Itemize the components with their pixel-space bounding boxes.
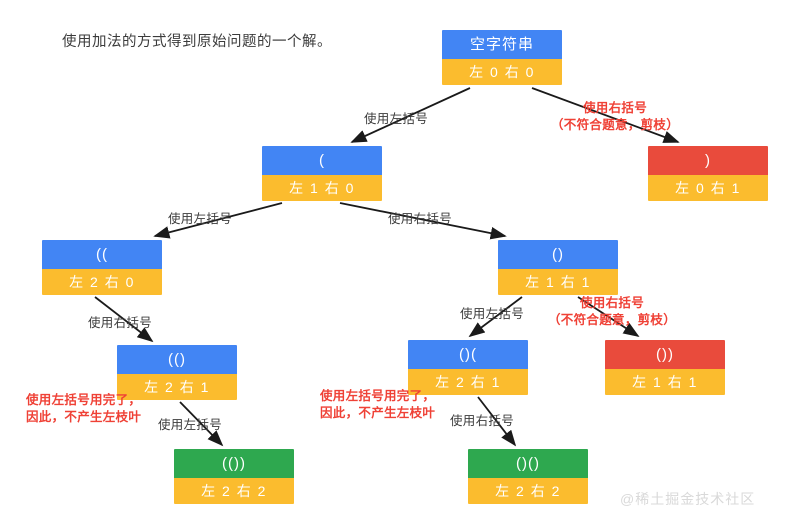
edge-label-l10: 使用左括号用完了，因此，不产生左枝叶 xyxy=(320,388,435,422)
edge-label-line1: 使用右括号 xyxy=(548,295,676,312)
node-counts: 左 2 右 2 xyxy=(468,478,588,504)
node-counts: 左 1 右 1 xyxy=(605,369,725,395)
diagram-caption: 使用加法的方式得到原始问题的一个解。 xyxy=(62,30,332,51)
tree-node-n_ococ: ()()左 2 右 2 xyxy=(468,449,588,504)
node-counts: 左 0 右 1 xyxy=(648,175,768,201)
edge-label-l3: 使用左括号 xyxy=(168,208,232,227)
diagram-canvas: 使用加法的方式得到原始问题的一个解。 空字符串左 0 右 0(左 1 右 0)左… xyxy=(0,0,789,518)
edge-label-l6: 使用左括号 xyxy=(460,303,524,322)
node-counts: 左 1 右 1 xyxy=(498,269,618,295)
tree-node-root: 空字符串左 0 右 0 xyxy=(442,30,562,85)
edge-label-l9: 使用左括号 xyxy=(158,414,222,433)
node-counts: 左 1 右 0 xyxy=(262,175,382,201)
edge-label-l4: 使用右括号 xyxy=(388,208,452,227)
edge-label-l7: 使用右括号（不符合题意，剪枝） xyxy=(548,295,676,329)
edge-label-l11: 使用右括号 xyxy=(450,410,514,429)
node-state: (( xyxy=(42,240,162,269)
edge-label-text: 使用左括号 xyxy=(168,208,232,227)
edge-label-line2: （不符合题意，剪枝） xyxy=(551,117,679,134)
edge-label-line2: （不符合题意，剪枝） xyxy=(548,312,676,329)
edge-label-text: 使用右括号 xyxy=(88,312,152,331)
edge-label-line2: 因此，不产生左枝叶 xyxy=(26,409,141,426)
node-state: ) xyxy=(648,146,768,175)
tree-node-n_occ: ())左 1 右 1 xyxy=(605,340,725,395)
edge-label-l2: 使用右括号（不符合题意，剪枝） xyxy=(551,100,679,134)
edge-label-line1: 使用左括号用完了， xyxy=(26,392,141,409)
edge-label-text: 使用左括号 xyxy=(364,108,428,127)
edge-label-line1: 使用右括号 xyxy=(551,100,679,117)
tree-node-n_oo: ((左 2 右 0 xyxy=(42,240,162,295)
edge-label-line1: 使用左括号用完了， xyxy=(320,388,435,405)
edge-label-line2: 因此，不产生左枝叶 xyxy=(320,405,435,422)
node-state: ( xyxy=(262,146,382,175)
node-state: (() xyxy=(117,345,237,374)
edge-label-text: 使用左括号 xyxy=(158,414,222,433)
tree-node-n_oco: ()(左 2 右 1 xyxy=(408,340,528,395)
edge-label-text: 使用右括号 xyxy=(450,410,514,429)
node-state: () xyxy=(498,240,618,269)
tree-node-n_close1: )左 0 右 1 xyxy=(648,146,768,201)
edge-label-l5: 使用右括号 xyxy=(88,312,152,331)
watermark: @稀土掘金技术社区 xyxy=(620,489,755,509)
tree-node-n_oocc: (())左 2 右 2 xyxy=(174,449,294,504)
edge-label-l1: 使用左括号 xyxy=(364,108,428,127)
tree-node-n_open1: (左 1 右 0 xyxy=(262,146,382,201)
edge-label-text: 使用左括号 xyxy=(460,303,524,322)
node-state: ()() xyxy=(468,449,588,478)
node-counts: 左 2 右 0 xyxy=(42,269,162,295)
edge-label-text: 使用右括号 xyxy=(388,208,452,227)
node-state: ()( xyxy=(408,340,528,369)
node-state: 空字符串 xyxy=(442,30,562,59)
node-counts: 左 2 右 2 xyxy=(174,478,294,504)
node-state: ()) xyxy=(605,340,725,369)
edge-label-l8: 使用左括号用完了，因此，不产生左枝叶 xyxy=(26,392,141,426)
node-state: (()) xyxy=(174,449,294,478)
node-counts: 左 0 右 0 xyxy=(442,59,562,85)
tree-node-n_oc: ()左 1 右 1 xyxy=(498,240,618,295)
